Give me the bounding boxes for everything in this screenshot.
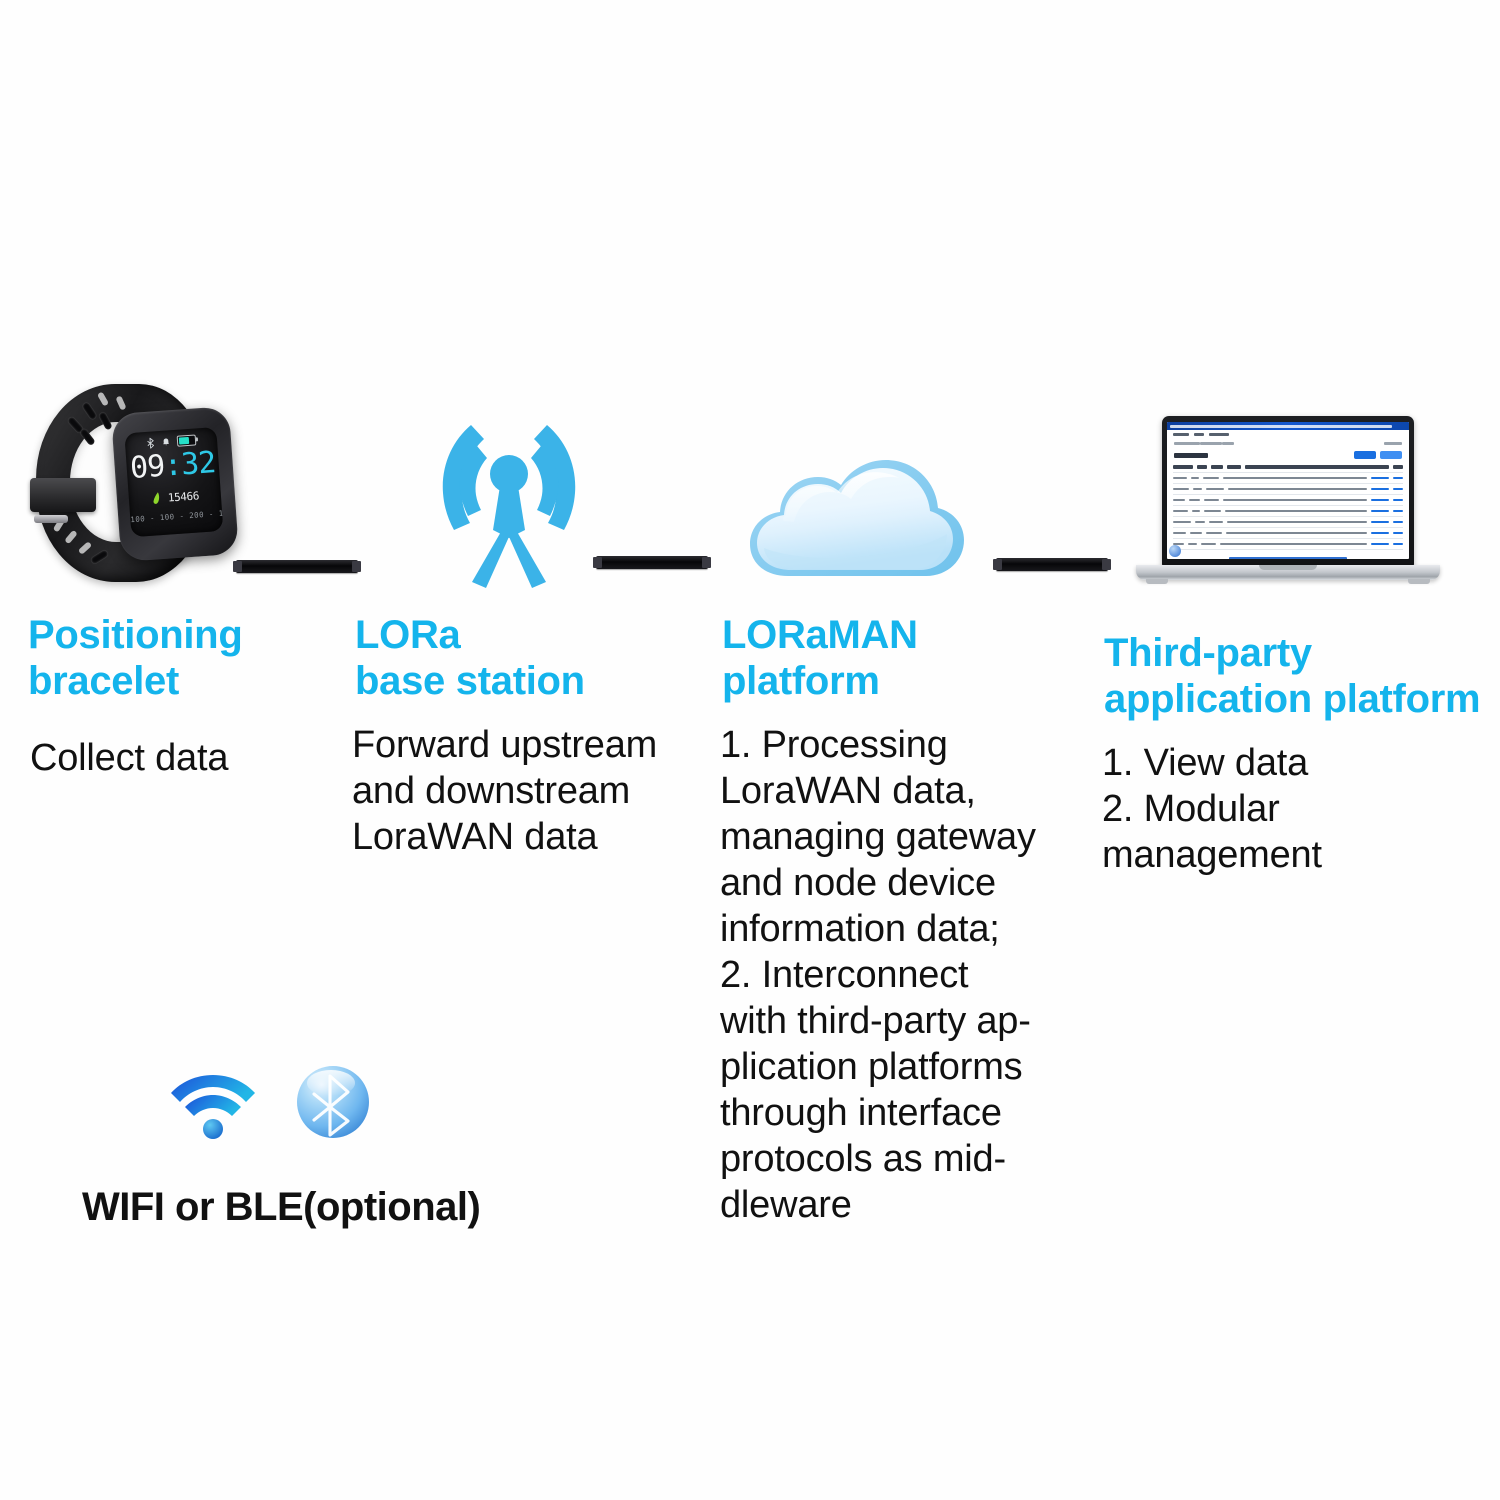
connector-platform-to-app <box>996 558 1108 571</box>
bluetooth-icon <box>294 1063 372 1141</box>
table-row[interactable] <box>1173 506 1403 517</box>
wireless-options-group: WIFI or BLE(optional) <box>60 1055 540 1255</box>
battery-icon <box>177 434 197 446</box>
table-row[interactable] <box>1173 539 1403 550</box>
watch-time-hours: 09 <box>129 449 165 486</box>
table-action-button[interactable] <box>1354 451 1376 459</box>
laptop-foot <box>1146 579 1168 584</box>
column-body-loraman-platform: 1. Processing LoraWAN data, managing gat… <box>720 722 1072 1228</box>
step-arrow-icon <box>150 491 163 506</box>
watch-time-minutes: :32 <box>163 445 217 483</box>
watch-buckle-pin <box>34 515 68 523</box>
laptop-screen <box>1167 422 1409 559</box>
table-row[interactable] <box>1173 484 1403 495</box>
watch-step-count: 15466 <box>167 489 199 504</box>
page-badge-icon <box>1169 545 1181 557</box>
column-heading-positioning-bracelet: Positioning bracelet <box>28 612 348 704</box>
cloud-icon <box>742 452 970 584</box>
data-table <box>1167 461 1409 559</box>
browser-menu-bar[interactable] <box>1167 430 1409 438</box>
watch-time: 09:32 <box>126 447 220 485</box>
laptop-lid <box>1162 416 1414 566</box>
laptop-trackpad-notch <box>1259 565 1317 570</box>
table-row[interactable] <box>1173 495 1403 506</box>
smartwatch-device: 09:32 15466 100 - 100 - 200 - 100 <box>28 378 243 590</box>
table-row[interactable] <box>1173 528 1403 539</box>
bell-icon <box>161 436 172 447</box>
table-row[interactable] <box>1173 517 1403 528</box>
table-row[interactable] <box>1173 473 1403 484</box>
watch-buckle <box>30 478 96 512</box>
table-footer-note <box>1173 557 1403 559</box>
browser-address-bar[interactable] <box>1167 422 1409 430</box>
watch-case: 09:32 15466 100 - 100 - 200 - 100 <box>111 406 239 562</box>
column-body-third-party-application-platform: 1. View data 2. Modular management <box>1102 740 1492 878</box>
laptop-device <box>1128 416 1448 596</box>
antenna-tower-icon <box>420 412 598 588</box>
table-header-row <box>1173 462 1403 473</box>
column-body-lora-base-station: Forward upstream and downstream LoraWAN … <box>352 722 702 860</box>
column-body-positioning-bracelet: Collect data <box>30 735 350 781</box>
wifi-icon <box>170 1067 256 1143</box>
watch-screen: 09:32 15466 100 - 100 - 200 - 100 <box>124 427 223 537</box>
laptop-base <box>1136 565 1440 580</box>
wireless-options-label: WIFI or BLE(optional) <box>82 1185 552 1230</box>
watch-tick-scale: 100 - 100 - 200 - 100 <box>130 509 222 524</box>
connector-station-to-platform <box>596 556 708 569</box>
column-heading-third-party-application-platform: Third-party application platform <box>1104 630 1500 722</box>
connector-bracelet-to-station <box>236 560 358 573</box>
table-action-button[interactable] <box>1380 451 1402 459</box>
column-heading-lora-base-station: LORa base station <box>355 612 685 704</box>
diagram-canvas: 09:32 15466 100 - 100 - 200 - 100 <box>0 0 1500 1500</box>
app-table-title-row <box>1167 449 1409 461</box>
bluetooth-small-icon <box>146 437 156 449</box>
laptop-foot <box>1408 579 1430 584</box>
app-filter-toolbar[interactable] <box>1167 438 1409 449</box>
column-heading-loraman-platform: LORaMAN platform <box>722 612 1082 704</box>
watch-steps: 15466 <box>129 487 222 507</box>
